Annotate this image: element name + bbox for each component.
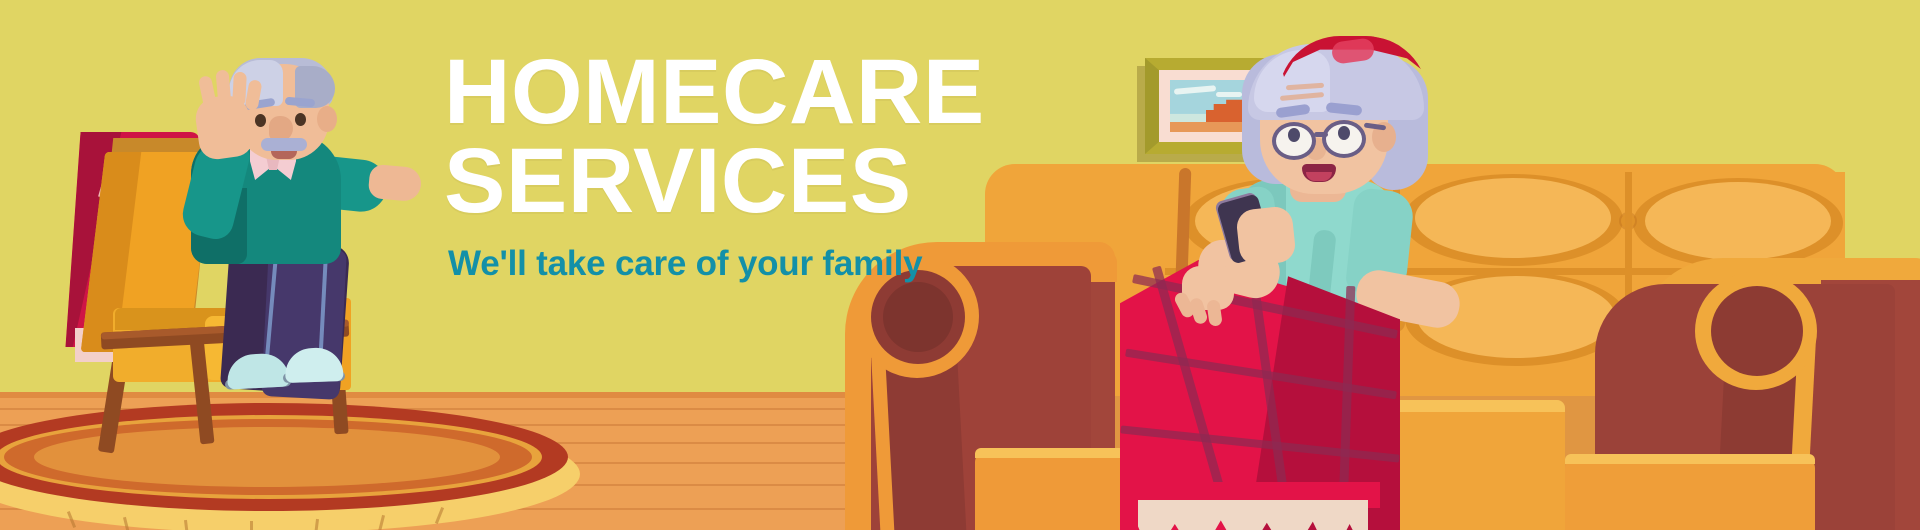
armrest-scroll-hole [883, 282, 953, 352]
woman-eye [1288, 128, 1300, 142]
sofa-armrest-right [1635, 258, 1920, 530]
armrest-cushion [1565, 458, 1815, 530]
armrest-scroll-inner [1711, 286, 1803, 376]
eyeglasses-bridge [1314, 132, 1328, 137]
man-mouth [271, 151, 297, 159]
sofa-armrest-left [845, 242, 1115, 530]
man-moustache [261, 138, 307, 151]
elderly-man-waving [145, 58, 375, 428]
man-ear [317, 106, 337, 132]
man-hand-right [368, 164, 423, 202]
man-eye [295, 113, 306, 126]
page-subtitle: We'll take care of your family [448, 244, 1084, 284]
armrest-cushion-edge [1565, 454, 1815, 464]
man-eye [255, 114, 266, 127]
woman-hand-right [1235, 205, 1297, 267]
armrest-cushion [975, 452, 1125, 530]
headline-block: HOMECARE SERVICES We'll take care of you… [444, 48, 1084, 284]
woman-eye [1338, 126, 1350, 140]
page-title: HOMECARE SERVICES [444, 48, 1084, 226]
woman-blanket-fringe [1138, 500, 1368, 530]
elderly-woman-with-phone [1120, 30, 1520, 530]
title-line-1: HOMECARE [444, 48, 1084, 137]
title-line-2: SERVICES [444, 137, 1084, 226]
homecare-services-banner: HOMECARE SERVICES We'll take care of you… [0, 0, 1920, 530]
armrest-cushion-edge [975, 448, 1125, 458]
